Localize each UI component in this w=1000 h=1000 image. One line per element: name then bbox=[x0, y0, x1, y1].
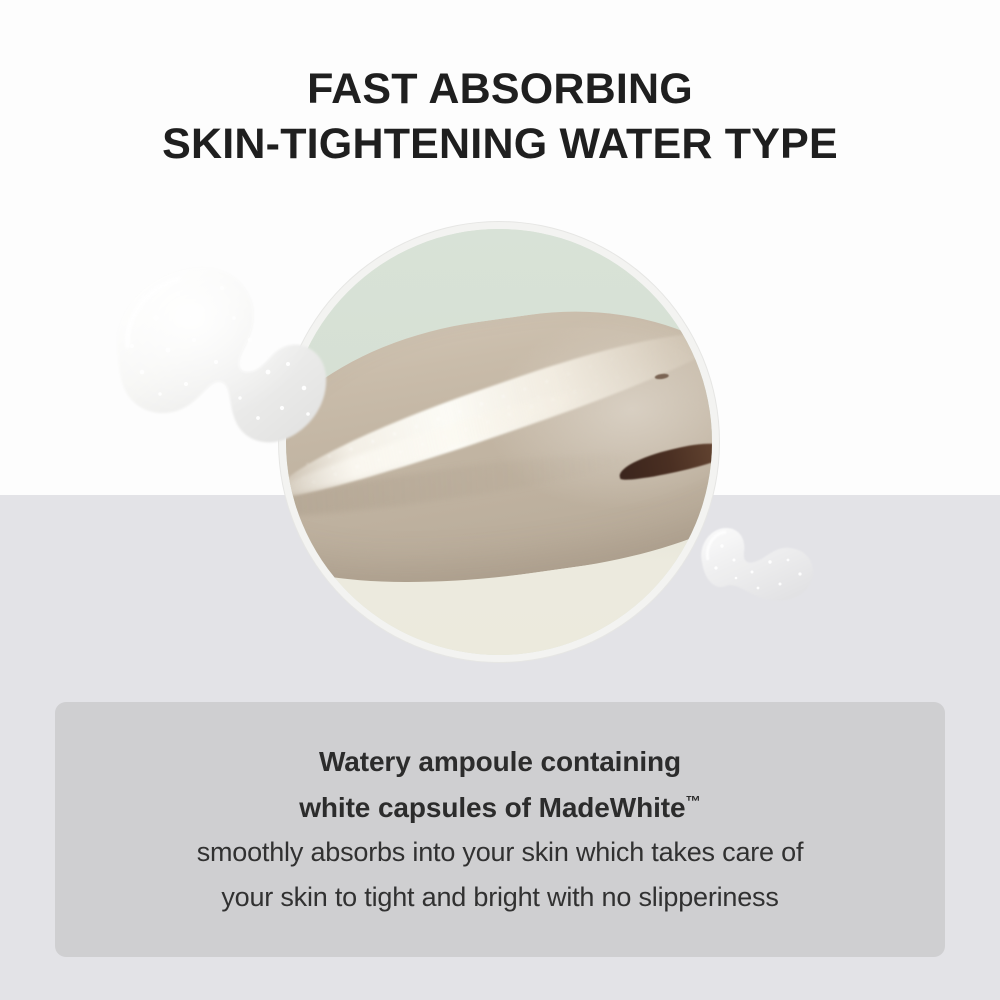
gel-swatch-small bbox=[692, 516, 822, 616]
description-regular-line-2: your skin to tight and bright with no sl… bbox=[221, 875, 778, 920]
hero-photo-circle bbox=[286, 229, 712, 655]
headline-line-1: FAST ABSORBING bbox=[0, 62, 1000, 117]
description-bold-line-1: Watery ampoule containing bbox=[319, 739, 681, 784]
description-panel: Watery ampoule containing white capsules… bbox=[55, 702, 945, 957]
gel-swatch-large bbox=[98, 222, 348, 462]
headline-line-2: SKIN-TIGHTENING WATER TYPE bbox=[0, 117, 1000, 172]
page-title: FAST ABSORBING SKIN-TIGHTENING WATER TYP… bbox=[0, 62, 1000, 172]
knuckle-mark bbox=[655, 373, 669, 380]
finger-crease bbox=[617, 437, 712, 485]
trademark-symbol: ™ bbox=[685, 793, 700, 810]
marketing-page: FAST ABSORBING SKIN-TIGHTENING WATER TYP… bbox=[0, 0, 1000, 1000]
description-bold-line-2: white capsules of MadeWhite™ bbox=[299, 785, 701, 830]
description-brand-text: white capsules of MadeWhite bbox=[299, 792, 685, 823]
description-regular-line-1: smoothly absorbs into your skin which ta… bbox=[197, 830, 804, 875]
